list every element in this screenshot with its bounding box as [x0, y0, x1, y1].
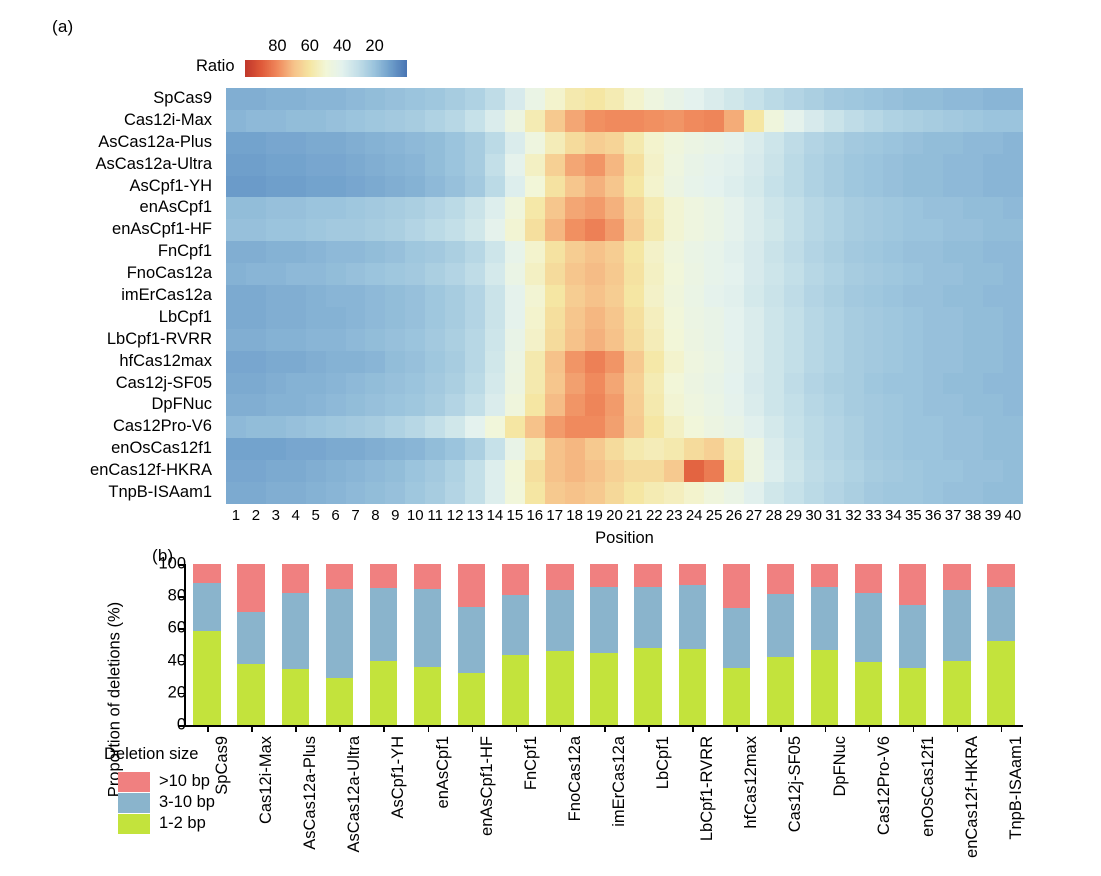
heatmap-cell — [784, 373, 804, 395]
heatmap-cell — [724, 263, 744, 285]
heatmap-cell — [485, 285, 505, 307]
heatmap-cell — [445, 197, 465, 219]
heatmap-cell — [585, 460, 605, 482]
heatmap-cell — [764, 394, 784, 416]
heatmap-cell — [525, 154, 545, 176]
heatmap-row-label: AsCas12a-Ultra — [0, 154, 219, 176]
heatmap-cell — [246, 351, 266, 373]
bar-stack[interactable] — [987, 564, 1014, 725]
bar-segment[interactable] — [237, 564, 264, 612]
heatmap-cell — [585, 88, 605, 110]
heatmap-cell — [385, 176, 405, 198]
heatmap-cell — [943, 394, 963, 416]
heatmap-cell — [824, 263, 844, 285]
heatmap-cell — [864, 351, 884, 373]
heatmap-cell — [525, 460, 545, 482]
heatmap-cell — [983, 394, 1003, 416]
bar-segment[interactable] — [590, 587, 617, 653]
bar-segment[interactable] — [723, 608, 750, 668]
heatmap-cell — [664, 285, 684, 307]
heatmap-cell — [844, 307, 864, 329]
heatmap-cell — [605, 197, 625, 219]
bar-x-tick-label: enAsCpf1-HF — [478, 736, 497, 836]
bar-stack[interactable] — [590, 564, 617, 725]
heatmap-cell — [624, 373, 644, 395]
heatmap-row — [226, 88, 1023, 110]
bar-segment[interactable] — [679, 649, 706, 725]
heatmap-cell — [943, 482, 963, 504]
heatmap-cell — [983, 110, 1003, 132]
heatmap-cell — [784, 241, 804, 263]
bar-stack[interactable] — [237, 564, 264, 725]
heatmap-cell — [883, 241, 903, 263]
heatmap-cell — [365, 438, 385, 460]
heatmap-x-tick: 13 — [465, 507, 485, 529]
bar-stack[interactable] — [634, 564, 661, 725]
heatmap-row-labels: SpCas9Cas12i-MaxAsCas12a-PlusAsCas12a-Ul… — [0, 88, 219, 504]
bar-segment[interactable] — [502, 564, 529, 595]
bar-segment[interactable] — [679, 585, 706, 649]
heatmap-cell — [445, 416, 465, 438]
bar-segment[interactable] — [546, 651, 573, 725]
heatmap-cell — [425, 394, 445, 416]
bar-segment[interactable] — [943, 564, 970, 590]
bar-segment[interactable] — [370, 588, 397, 661]
bar-segment[interactable] — [193, 583, 220, 630]
heatmap-cell — [923, 416, 943, 438]
heatmap-cell — [485, 219, 505, 241]
heatmap-cell — [704, 285, 724, 307]
bar-stack[interactable] — [458, 564, 485, 725]
heatmap-cell — [246, 197, 266, 219]
heatmap-cell — [605, 373, 625, 395]
heatmap-cell — [804, 438, 824, 460]
heatmap-cell — [605, 416, 625, 438]
bar-segment[interactable] — [855, 564, 882, 593]
heatmap-cell — [425, 176, 445, 198]
heatmap-cell — [963, 263, 983, 285]
heatmap-cell — [365, 307, 385, 329]
bar-x-tick-label: TnpB-ISAam1 — [1007, 736, 1026, 840]
heatmap-cell — [346, 482, 366, 504]
heatmap-cell — [465, 460, 485, 482]
heatmap-cell — [565, 416, 585, 438]
bar-segment[interactable] — [546, 564, 573, 590]
heatmap-cell — [226, 219, 246, 241]
bar-segment[interactable] — [855, 662, 882, 725]
heatmap-cell — [226, 460, 246, 482]
heatmap-cell — [784, 176, 804, 198]
heatmap-cell — [565, 285, 585, 307]
bar-segment[interactable] — [987, 564, 1014, 587]
heatmap-cell — [764, 329, 784, 351]
heatmap-cell — [445, 219, 465, 241]
heatmap-cell — [226, 351, 246, 373]
bar-stack[interactable] — [193, 564, 220, 725]
heatmap-cell — [565, 482, 585, 504]
bar-x-tick-mark — [207, 726, 209, 732]
bar-stack[interactable] — [943, 564, 970, 725]
heatmap-cell — [824, 482, 844, 504]
heatmap-x-tick: 1 — [226, 507, 246, 529]
bar-segment[interactable] — [899, 668, 926, 725]
bar-x-tick-mark — [516, 726, 518, 732]
heatmap-cell — [585, 219, 605, 241]
heatmap-cell — [585, 416, 605, 438]
bar-segment[interactable] — [414, 589, 441, 667]
heatmap-cell — [585, 285, 605, 307]
heatmap-cell — [445, 176, 465, 198]
bar-segment[interactable] — [414, 667, 441, 725]
bar-stack[interactable] — [282, 564, 309, 725]
heatmap-cell — [844, 241, 864, 263]
heatmap-cell — [545, 154, 565, 176]
heatmap-cell — [883, 416, 903, 438]
heatmap-cell — [624, 351, 644, 373]
bar-x-tick-mark — [604, 726, 606, 732]
heatmap-cell — [525, 110, 545, 132]
heatmap-cell — [903, 416, 923, 438]
heatmap-cell — [1003, 460, 1023, 482]
heatmap-cell — [465, 241, 485, 263]
bar-segment[interactable] — [767, 657, 794, 725]
heatmap-cell — [266, 110, 286, 132]
bar-segment[interactable] — [899, 564, 926, 605]
heatmap-cell — [963, 460, 983, 482]
colorbar-tick-label: 20 — [365, 37, 383, 56]
heatmap-cell — [226, 329, 246, 351]
heatmap-cell — [864, 307, 884, 329]
bar-segment[interactable] — [855, 593, 882, 662]
bar-segment[interactable] — [414, 564, 441, 589]
bar-segment[interactable] — [458, 673, 485, 725]
heatmap-cell — [385, 373, 405, 395]
heatmap-cell — [505, 241, 525, 263]
bar-segment[interactable] — [723, 668, 750, 725]
colorbar-gradient — [245, 60, 407, 77]
bar-segment[interactable] — [943, 590, 970, 661]
heatmap-cell — [1003, 219, 1023, 241]
heatmap-row — [226, 154, 1023, 176]
heatmap-cell — [485, 241, 505, 263]
heatmap-cell — [704, 197, 724, 219]
bar-stack[interactable] — [326, 564, 353, 725]
heatmap-cell — [824, 176, 844, 198]
heatmap-cell — [605, 88, 625, 110]
bar-segment[interactable] — [502, 595, 529, 655]
heatmap-cell — [445, 132, 465, 154]
heatmap-cell — [923, 438, 943, 460]
heatmap-cell — [346, 263, 366, 285]
heatmap-cell — [744, 219, 764, 241]
bar-stack[interactable] — [502, 564, 529, 725]
bar-segment[interactable] — [237, 612, 264, 664]
heatmap-cell — [943, 460, 963, 482]
heatmap-row — [226, 416, 1023, 438]
heatmap-cell — [664, 132, 684, 154]
heatmap-x-tick: 8 — [365, 507, 385, 529]
heatmap-cell — [525, 176, 545, 198]
heatmap-cell — [286, 154, 306, 176]
bar-stack[interactable] — [899, 564, 926, 725]
heatmap-cell — [445, 351, 465, 373]
bar-segment[interactable] — [590, 653, 617, 725]
heatmap-cell — [844, 460, 864, 482]
bar-stack[interactable] — [370, 564, 397, 725]
bar-segment[interactable] — [326, 678, 353, 725]
bar-y-tick-mark — [178, 693, 185, 695]
bar-segment[interactable] — [811, 564, 838, 587]
bar-stack[interactable] — [414, 564, 441, 725]
heatmap-cell — [784, 132, 804, 154]
heatmap-cell — [804, 285, 824, 307]
heatmap-cell — [903, 176, 923, 198]
panel-a-heatmap: (a) Ratio 80604020 SpCas9Cas12i-MaxAsCas… — [0, 0, 1101, 540]
heatmap-cell — [365, 132, 385, 154]
bar-segment[interactable] — [634, 648, 661, 725]
heatmap-cell — [465, 307, 485, 329]
bar-segment[interactable] — [679, 564, 706, 585]
heatmap-cell — [844, 219, 864, 241]
heatmap-cell — [864, 263, 884, 285]
heatmap-x-tick: 18 — [565, 507, 585, 529]
heatmap-cell — [684, 438, 704, 460]
bar-segment[interactable] — [634, 587, 661, 648]
heatmap-cell — [605, 285, 625, 307]
heatmap-cell — [624, 460, 644, 482]
heatmap-cell — [923, 132, 943, 154]
bar-segment[interactable] — [370, 661, 397, 725]
heatmap-cell — [246, 373, 266, 395]
heatmap-cell — [465, 351, 485, 373]
legend-item[interactable]: 3-10 bp — [118, 792, 304, 813]
heatmap-cell — [226, 263, 246, 285]
bar-segment[interactable] — [811, 650, 838, 725]
heatmap-x-tick: 3 — [266, 507, 286, 529]
heatmap-row-label: enAsCpf1 — [0, 197, 219, 219]
bar-segment[interactable] — [811, 587, 838, 651]
heatmap-cell — [545, 460, 565, 482]
heatmap-cell — [764, 132, 784, 154]
heatmap-cell — [1003, 307, 1023, 329]
heatmap-cell — [605, 460, 625, 482]
heatmap-cell — [425, 219, 445, 241]
bar-x-tick-label: AsCpf1-YH — [389, 736, 408, 819]
heatmap-cell — [286, 307, 306, 329]
heatmap-cell — [664, 329, 684, 351]
heatmap-cell — [385, 482, 405, 504]
bar-segment[interactable] — [987, 587, 1014, 641]
heatmap-cell — [246, 154, 266, 176]
heatmap-cell — [923, 263, 943, 285]
heatmap-cell — [505, 329, 525, 351]
heatmap-cell — [226, 176, 246, 198]
bar-x-tick-mark — [780, 726, 782, 732]
bar-segment[interactable] — [458, 564, 485, 607]
bar-segment[interactable] — [943, 661, 970, 725]
heatmap-x-tick: 14 — [485, 507, 505, 529]
heatmap-cell — [445, 241, 465, 263]
heatmap-x-ticklabels: 1234567891011121314151617181920212223242… — [226, 507, 1023, 529]
heatmap-cell — [445, 88, 465, 110]
heatmap-cell — [226, 482, 246, 504]
heatmap-cell — [624, 219, 644, 241]
heatmap-cell — [864, 482, 884, 504]
bar-segment[interactable] — [237, 664, 264, 725]
heatmap-cell — [565, 241, 585, 263]
heatmap-cell — [704, 373, 724, 395]
heatmap-x-tick: 6 — [326, 507, 346, 529]
heatmap-cell — [943, 373, 963, 395]
heatmap-cell — [266, 373, 286, 395]
bar-x-tick-label: enAsCpf1 — [434, 736, 453, 808]
bar-segment[interactable] — [458, 607, 485, 674]
heatmap-cell — [664, 88, 684, 110]
heatmap-cell — [465, 88, 485, 110]
bar-segment[interactable] — [370, 564, 397, 588]
bar-stack[interactable] — [679, 564, 706, 725]
bar-segment[interactable] — [767, 564, 794, 594]
heatmap-cell — [704, 241, 724, 263]
heatmap-cell — [505, 460, 525, 482]
heatmap-cell — [844, 263, 864, 285]
bar-segment[interactable] — [767, 594, 794, 657]
heatmap-cell — [385, 329, 405, 351]
bar-segment[interactable] — [193, 564, 220, 583]
heatmap-cell — [365, 285, 385, 307]
heatmap-cell — [425, 285, 445, 307]
bar-segment[interactable] — [282, 564, 309, 593]
heatmap-row — [226, 219, 1023, 241]
heatmap-cell — [943, 132, 963, 154]
bar-segment[interactable] — [723, 564, 750, 608]
heatmap-row — [226, 197, 1023, 219]
heatmap-cell — [266, 285, 286, 307]
heatmap-cell — [365, 263, 385, 285]
heatmap-cell — [545, 329, 565, 351]
heatmap-cell — [903, 285, 923, 307]
heatmap-cell — [405, 373, 425, 395]
bar-segment[interactable] — [326, 564, 353, 589]
heatmap-cell — [545, 307, 565, 329]
heatmap-cell — [824, 154, 844, 176]
heatmap-cell — [724, 219, 744, 241]
heatmap-cell — [724, 394, 744, 416]
heatmap-cell — [644, 373, 664, 395]
bar-y-tick-mark — [178, 628, 185, 630]
legend-label: 1-2 bp — [159, 814, 206, 833]
heatmap-cell — [246, 285, 266, 307]
heatmap-x-tick: 25 — [704, 507, 724, 529]
heatmap-cell — [326, 482, 346, 504]
bar-segment[interactable] — [634, 564, 661, 587]
heatmap-cell — [844, 88, 864, 110]
heatmap-cell — [983, 241, 1003, 263]
heatmap-cell — [983, 307, 1003, 329]
heatmap-cell — [983, 132, 1003, 154]
heatmap-cell — [784, 329, 804, 351]
heatmap-cell — [246, 241, 266, 263]
bar-stack[interactable] — [546, 564, 573, 725]
heatmap-cell — [266, 394, 286, 416]
heatmap-cell — [923, 197, 943, 219]
heatmap-cell — [644, 351, 664, 373]
heatmap-cell — [864, 285, 884, 307]
bar-segment[interactable] — [899, 605, 926, 668]
heatmap-cell — [445, 438, 465, 460]
bar-segment[interactable] — [546, 590, 573, 651]
heatmap-cell — [585, 241, 605, 263]
bar-stack[interactable] — [723, 564, 750, 725]
bar-segment[interactable] — [590, 564, 617, 587]
heatmap-cell — [1003, 154, 1023, 176]
heatmap-cell — [266, 351, 286, 373]
heatmap-cell — [306, 307, 326, 329]
heatmap-cell — [605, 438, 625, 460]
heatmap-cell — [286, 285, 306, 307]
heatmap-cell — [864, 154, 884, 176]
heatmap-cell — [405, 176, 425, 198]
heatmap-cell — [983, 351, 1003, 373]
heatmap-cell — [405, 351, 425, 373]
heatmap-x-tick: 35 — [903, 507, 923, 529]
heatmap-cell — [764, 351, 784, 373]
bar-x-tick-mark — [648, 726, 650, 732]
heatmap-cell — [485, 110, 505, 132]
bar-stack[interactable] — [811, 564, 838, 725]
legend-item[interactable]: >10 bp — [118, 771, 304, 792]
heatmap-cell — [485, 460, 505, 482]
heatmap-x-tick: 24 — [684, 507, 704, 529]
bar-segment[interactable] — [282, 669, 309, 725]
heatmap-cell — [684, 416, 704, 438]
heatmap-row — [226, 285, 1023, 307]
heatmap-cell — [923, 351, 943, 373]
heatmap-cell — [385, 307, 405, 329]
heatmap-cell — [943, 241, 963, 263]
heatmap-cell — [1003, 416, 1023, 438]
bar-stack[interactable] — [855, 564, 882, 725]
heatmap-cell — [764, 285, 784, 307]
heatmap-cell — [744, 176, 764, 198]
heatmap-cell — [684, 460, 704, 482]
heatmap-cell — [385, 394, 405, 416]
heatmap-row-label: AsCas12a-Plus — [0, 132, 219, 154]
legend-item[interactable]: 1-2 bp — [118, 813, 304, 834]
heatmap-cell — [1003, 132, 1023, 154]
heatmap-cell — [784, 351, 804, 373]
heatmap-cell — [983, 373, 1003, 395]
bar-segment[interactable] — [193, 631, 220, 725]
heatmap-row — [226, 263, 1023, 285]
bar-y-tick-mark — [178, 661, 185, 663]
heatmap-cell — [246, 263, 266, 285]
heatmap-cell — [804, 307, 824, 329]
bar-segment[interactable] — [502, 655, 529, 725]
heatmap-cell — [545, 88, 565, 110]
bar-segment[interactable] — [987, 641, 1014, 725]
heatmap-cell — [644, 285, 664, 307]
bar-segment[interactable] — [326, 589, 353, 678]
heatmap-cell — [624, 176, 644, 198]
bar-segment[interactable] — [282, 593, 309, 669]
bar-stack[interactable] — [767, 564, 794, 725]
heatmap-cell — [784, 154, 804, 176]
heatmap-cell — [883, 154, 903, 176]
heatmap-cell — [405, 460, 425, 482]
heatmap-cell — [485, 416, 505, 438]
heatmap-cell — [505, 263, 525, 285]
